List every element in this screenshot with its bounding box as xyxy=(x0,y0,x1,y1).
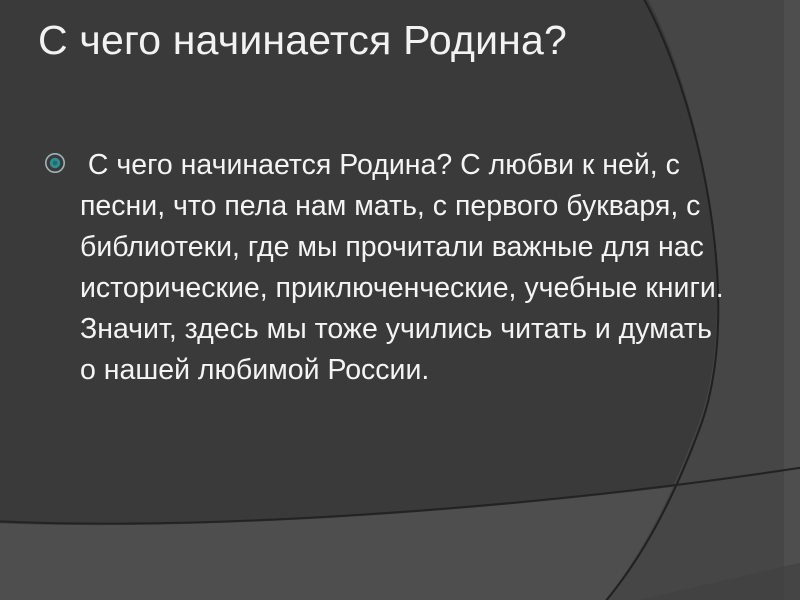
slide-title: С чего начинается Родина? xyxy=(38,14,638,66)
slide-body-bullet-item: С чего начинается Родина? С любви к ней,… xyxy=(44,145,724,391)
presentation-slide: С чего начинается Родина? С чего начинае… xyxy=(0,0,800,600)
slide-body-text: С чего начинается Родина? С любви к ней,… xyxy=(80,145,724,391)
ring-bullet-icon xyxy=(44,152,66,174)
slide-content: С чего начинается Родина? С чего начинае… xyxy=(0,0,800,600)
